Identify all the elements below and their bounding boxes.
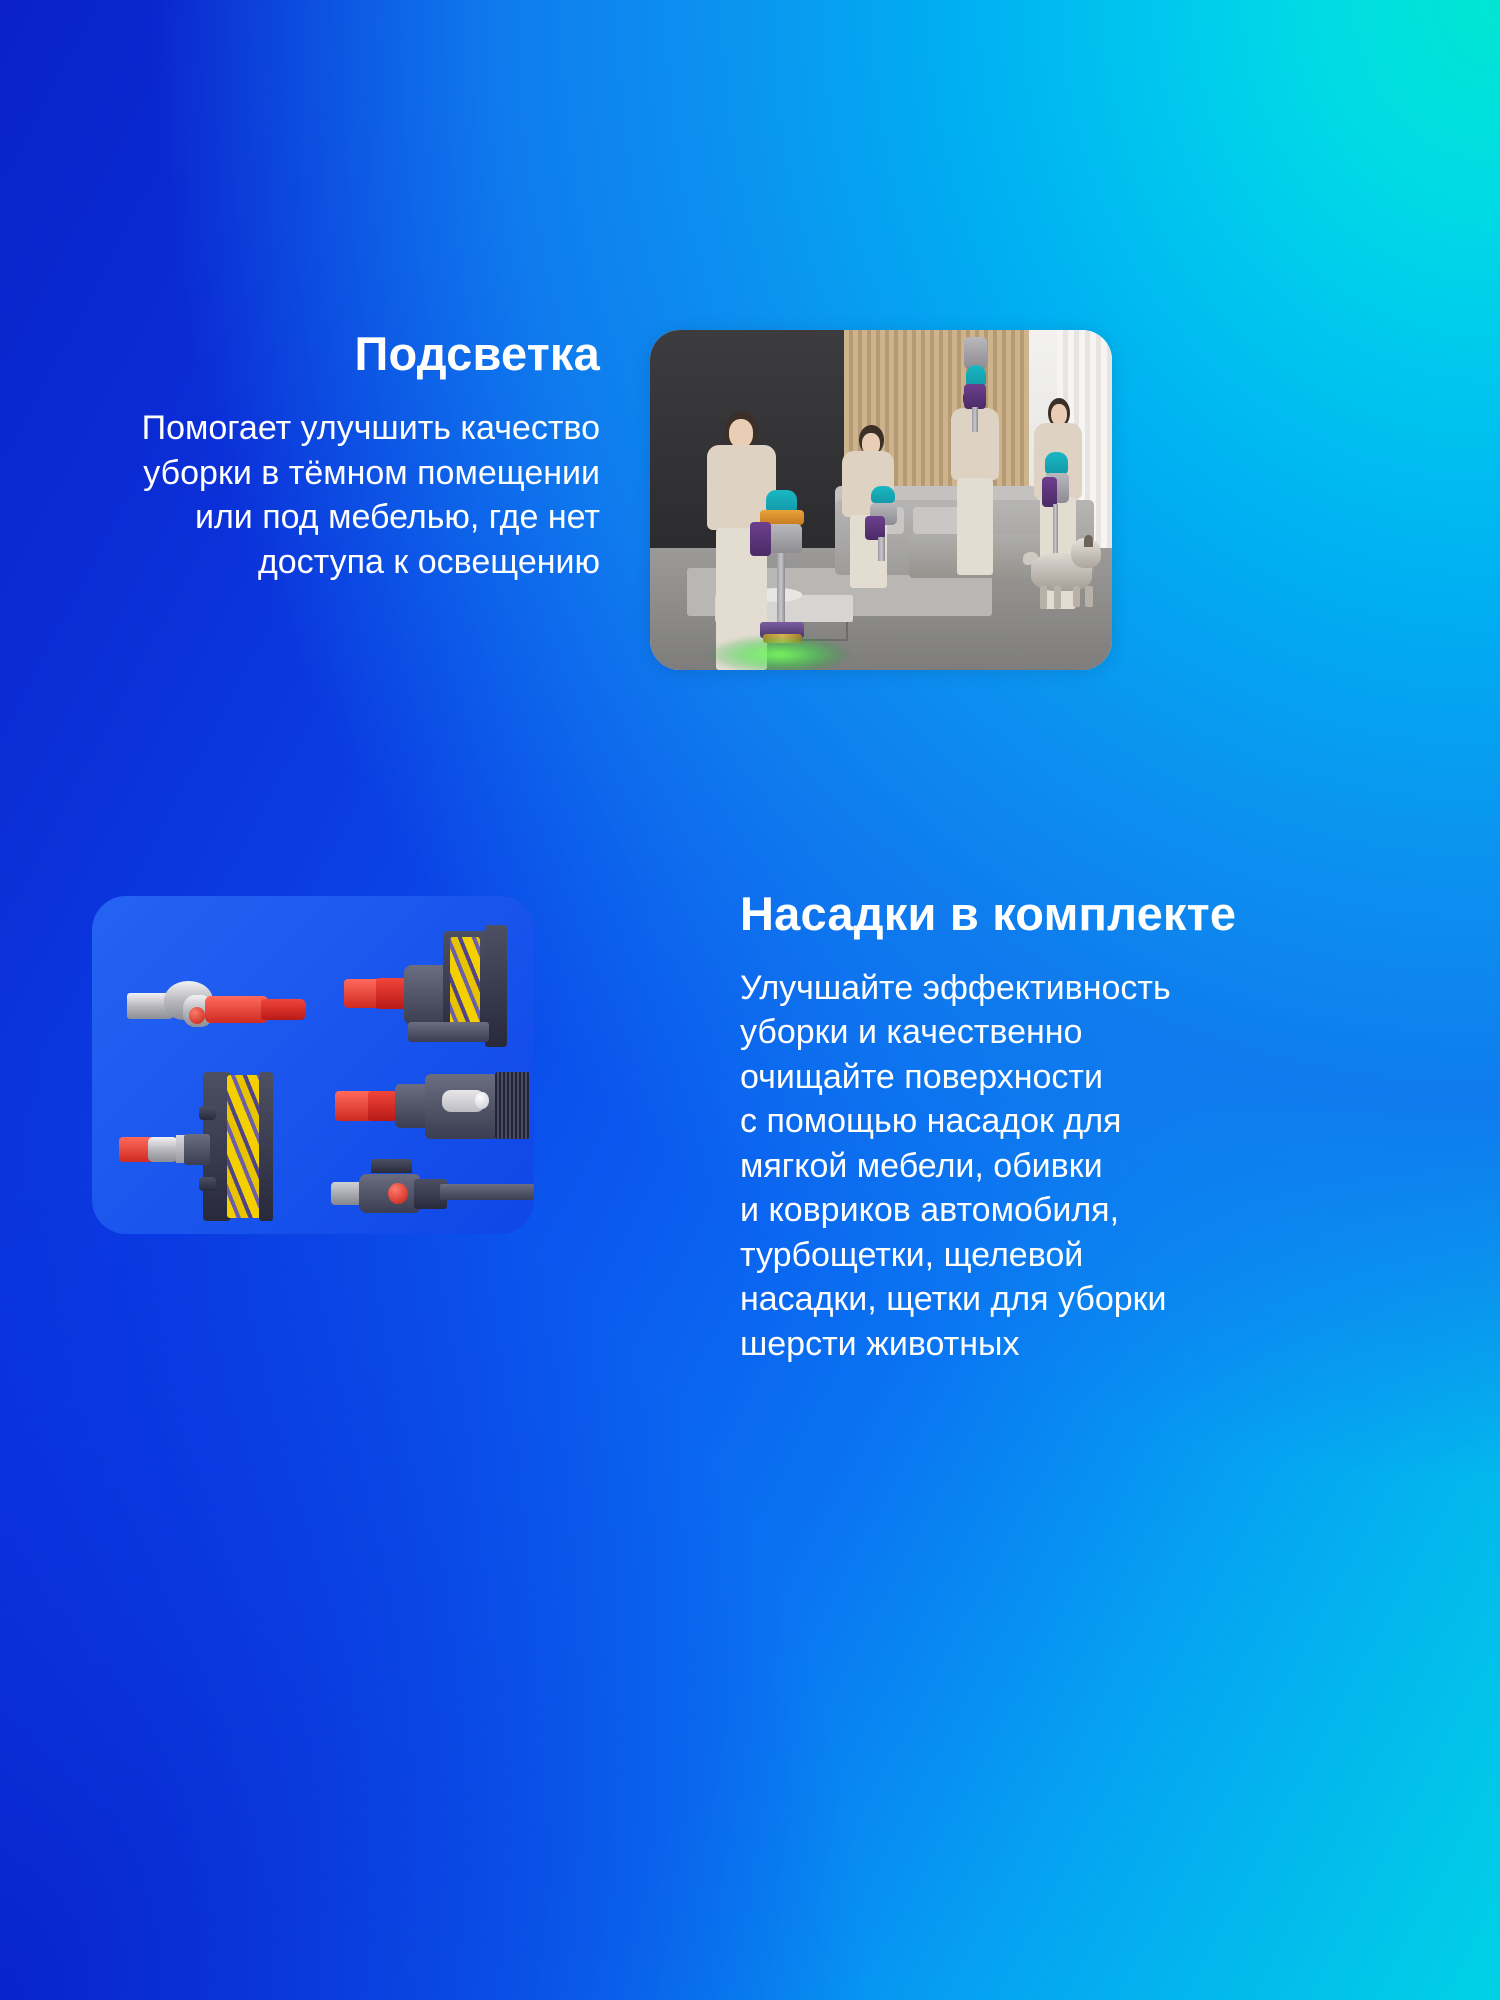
attachments-text-block: Насадки в комплекте Улучшайте эффективно… — [740, 888, 1440, 1366]
dog-leg-1 — [1040, 586, 1047, 608]
attachments-body-line-2: уборки и качественно — [740, 1010, 1440, 1055]
attachments-body-line-3: очищайте поверхности — [740, 1055, 1440, 1100]
tool-swivel-adapter — [127, 970, 313, 1038]
section-backlight: Подсветка Помогает улучшить качество убо… — [0, 318, 1500, 688]
backlight-body: Помогает улучшить качество уборки в тёмн… — [60, 406, 600, 586]
attachments-body-line-1: Улучшайте эффективность — [740, 966, 1440, 1011]
backlight-heading: Подсветка — [60, 328, 600, 380]
dog — [1024, 534, 1103, 609]
attachments-body-line-6: и ковриков автомобиля, — [740, 1188, 1440, 1233]
attachments-body: Улучшайте эффективность уборки и качеств… — [740, 966, 1440, 1367]
dog-leg-2 — [1054, 586, 1061, 608]
vacuum-2 — [858, 486, 909, 561]
tool-soft-roller-brush — [119, 1072, 331, 1227]
vacuum-1 — [742, 490, 821, 660]
attachments-body-line-5: мягкой мебели, обивки — [740, 1144, 1440, 1189]
room-scene — [650, 330, 1112, 670]
tool-crevice-nozzle — [331, 1166, 534, 1220]
dog-ear — [1084, 535, 1093, 546]
dog-leg-3 — [1073, 586, 1080, 607]
backlight-text-block: Подсветка Помогает улучшить качество убо… — [60, 328, 600, 585]
attachments-body-line-8: насадки, щетки для уборки — [740, 1277, 1440, 1322]
dog-leg-4 — [1085, 586, 1092, 607]
section-attachments: Насадки в комплекте Улучшайте эффективно… — [0, 888, 1500, 1358]
attachments-card — [92, 896, 534, 1234]
backlight-body-line-4: доступа к освещению — [60, 540, 600, 585]
tool-mini-turbo-brush — [344, 920, 521, 1062]
backlight-photo-card — [650, 330, 1112, 670]
vacuum-3 — [955, 337, 997, 432]
backlight-body-line-1: Помогает улучшить качество — [60, 406, 600, 451]
attachments-body-line-7: турбощетки, щелевой — [740, 1233, 1440, 1278]
backlight-body-line-2: уборки в тёмном помещении — [60, 451, 600, 496]
backlight-body-line-3: или под мебелью, где нет — [60, 495, 600, 540]
tool-pet-hair-brush — [335, 1065, 529, 1153]
promo-page: Подсветка Помогает улучшить качество убо… — [0, 0, 1500, 2000]
attachments-heading: Насадки в комплекте — [740, 888, 1440, 940]
laser-glow-1 — [710, 636, 849, 670]
attachments-body-line-9: шерсти животных — [740, 1322, 1440, 1367]
attachments-body-line-4: с помощью насадок для — [740, 1099, 1440, 1144]
